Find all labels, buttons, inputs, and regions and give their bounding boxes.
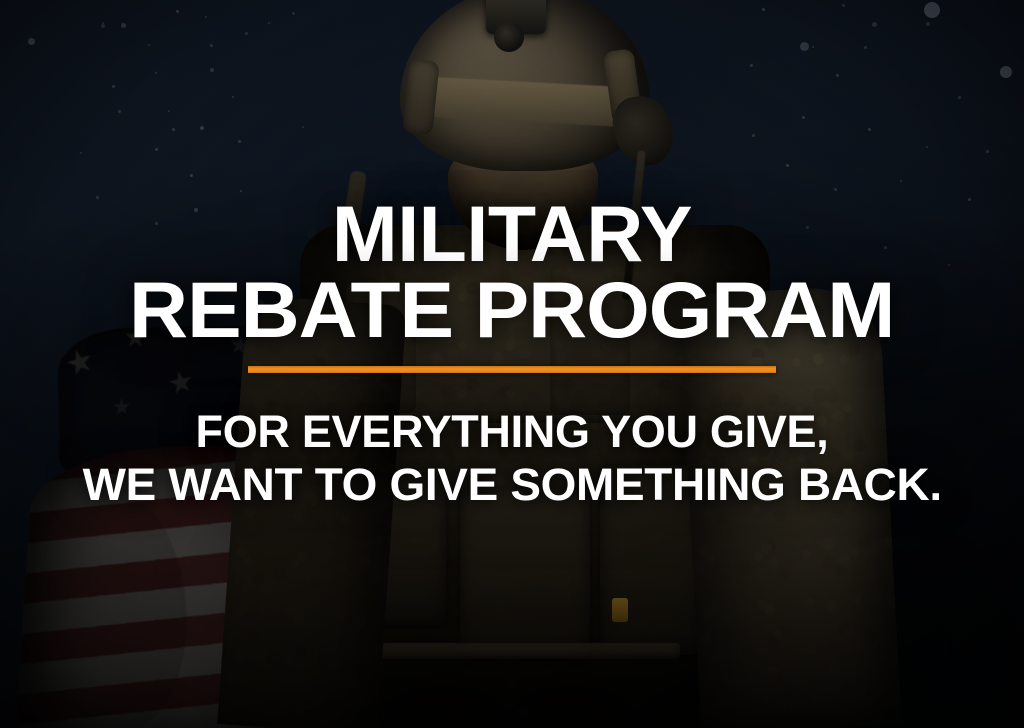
banner-content: MILITARY REBATE PROGRAM FOR EVERYTHING Y… (0, 0, 1024, 728)
page-title: MILITARY REBATE PROGRAM (142, 196, 881, 348)
subheadline-line-1: FOR EVERYTHING YOU GIVE, (91, 405, 933, 458)
accent-divider (248, 366, 776, 373)
page-subtitle: FOR EVERYTHING YOU GIVE, WE WANT TO GIVE… (91, 405, 933, 511)
headline-line-1: MILITARY (142, 196, 881, 272)
military-rebate-banner: MILITARY REBATE PROGRAM FOR EVERYTHING Y… (0, 0, 1024, 728)
subheadline-line-2: WE WANT TO GIVE SOMETHING BACK. (82, 458, 941, 511)
headline-line-2: REBATE PROGRAM (129, 272, 894, 348)
